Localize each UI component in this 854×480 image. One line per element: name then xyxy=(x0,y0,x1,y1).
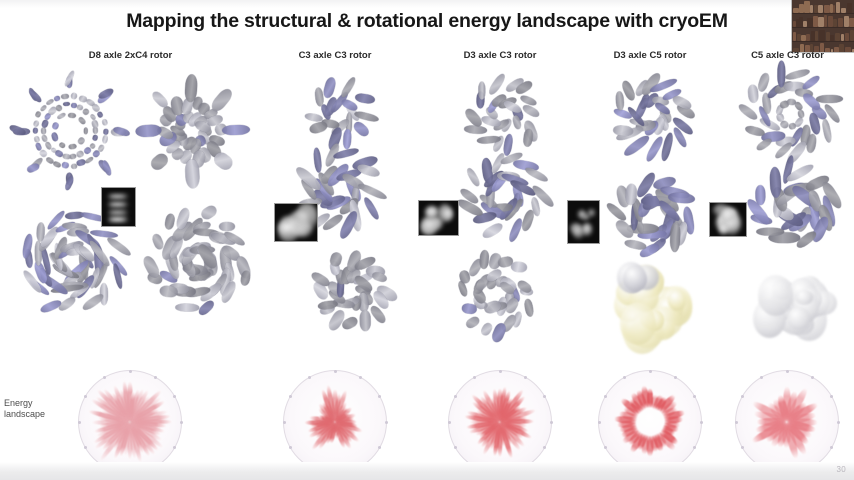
energy-landscape-plot-col-3[interactable] xyxy=(448,370,552,474)
landscape-tick xyxy=(448,421,451,424)
top-gradient-band xyxy=(0,0,854,8)
book-spine xyxy=(841,34,845,41)
landscape-tick xyxy=(499,370,502,373)
book-spine xyxy=(804,1,809,13)
book-spine xyxy=(810,5,813,14)
book-spine xyxy=(839,44,844,52)
density-map-c5-white xyxy=(742,258,850,354)
landscape-tick xyxy=(173,395,176,398)
row-label-energy-landscape: Energy landscape xyxy=(4,398,66,420)
landscape-tick xyxy=(598,421,601,424)
class-average-inset-5 xyxy=(709,202,747,237)
landscape-tick xyxy=(334,370,337,373)
book-spine xyxy=(818,17,823,27)
book-spine xyxy=(819,30,825,41)
book-spine xyxy=(799,17,802,27)
landscape-tick xyxy=(550,421,553,424)
structure-c2-bottom-surface-render xyxy=(298,240,406,342)
book-spine xyxy=(841,8,847,13)
book-spine xyxy=(814,46,819,52)
book-spine xyxy=(801,35,805,41)
landscape-tick xyxy=(180,421,183,424)
class-average-inset-3 xyxy=(418,200,459,236)
landscape-tick xyxy=(283,421,286,424)
book-spine xyxy=(850,30,854,41)
structure-c1-top-surface-render xyxy=(132,72,252,190)
class-average-inset-4 xyxy=(567,200,600,244)
book-spine xyxy=(826,32,830,41)
book-spine xyxy=(825,48,830,52)
structure-c4-mid-side-view xyxy=(598,168,710,264)
book-spine xyxy=(806,34,810,41)
landscape-tick xyxy=(830,446,833,449)
landscape-tick xyxy=(129,370,132,373)
book-spine xyxy=(813,16,817,27)
slide-canvas: Mapping the structural & rotational ener… xyxy=(0,0,854,480)
landscape-tick xyxy=(786,370,789,373)
book-spine xyxy=(810,44,813,52)
book-spine xyxy=(836,2,840,13)
landscape-tick xyxy=(385,421,388,424)
book-spine xyxy=(833,19,837,27)
landscape-tick xyxy=(378,446,381,449)
book-spine xyxy=(824,5,830,13)
column-header-c3-axle-c3-rotor: C3 axle C3 rotor xyxy=(255,50,415,61)
class-average-inset-1 xyxy=(101,187,136,227)
book-spine xyxy=(830,35,833,41)
landscape-tick xyxy=(700,421,703,424)
presenter-webcam-overlay[interactable] xyxy=(792,0,854,52)
book-spine xyxy=(805,45,810,52)
book-spine xyxy=(834,47,839,52)
page-title: Mapping the structural & rotational ener… xyxy=(0,10,854,33)
landscape-tick xyxy=(837,421,840,424)
energy-landscape-plot-col-2[interactable] xyxy=(283,370,387,474)
landscape-disc xyxy=(598,370,702,474)
landscape-tick xyxy=(543,446,546,449)
book-spine xyxy=(793,48,799,52)
slide-number: 30 xyxy=(837,465,847,474)
row-label-line-1: Energy xyxy=(4,398,66,409)
book-spine xyxy=(845,47,851,52)
structure-c3-mid-side-view xyxy=(448,148,562,244)
book-spine xyxy=(845,33,850,41)
bookshelf-row-1 xyxy=(792,0,854,13)
landscape-tick xyxy=(543,395,546,398)
bookshelf-row-4 xyxy=(792,42,854,52)
landscape-tick xyxy=(693,395,696,398)
structure-c5-mid-side-view xyxy=(742,160,850,254)
landscape-tick xyxy=(735,421,738,424)
book-spine xyxy=(824,15,827,27)
landscape-tick xyxy=(693,446,696,449)
book-spine xyxy=(814,5,818,13)
class-average-inset-2 xyxy=(274,203,318,242)
structure-c5-top-axial-view xyxy=(736,64,844,164)
column-header-d3-axle-c3-rotor: D3 axle C3 rotor xyxy=(420,50,580,61)
book-spine xyxy=(800,44,804,52)
book-spine xyxy=(838,18,844,27)
column-header-d8-axle-2xc4-rotor: D8 axle 2xC4 rotor xyxy=(48,50,213,61)
book-spine xyxy=(799,4,804,13)
energy-landscape-plot-col-1[interactable] xyxy=(78,370,182,474)
landscape-tick xyxy=(830,395,833,398)
book-spine xyxy=(807,18,812,27)
column-header-d3-axle-c5-rotor: D3 axle C5 rotor xyxy=(570,50,730,61)
bookshelf-row-3 xyxy=(792,28,854,41)
landscape-tick xyxy=(173,446,176,449)
book-spine xyxy=(835,33,840,41)
structure-c4-top-axial-view xyxy=(596,66,708,164)
book-spine xyxy=(815,31,818,41)
book-spine xyxy=(844,16,849,27)
book-spine xyxy=(849,18,854,27)
bottom-gradient-band xyxy=(0,462,854,480)
landscape-tick xyxy=(378,395,381,398)
book-spine xyxy=(831,49,833,52)
book-spine xyxy=(811,31,815,41)
book-spine xyxy=(847,3,852,13)
structure-c3-bottom-surface-render xyxy=(440,244,552,344)
energy-landscape-plot-col-4[interactable] xyxy=(598,370,702,474)
structure-c1-mid-surface-render xyxy=(136,196,262,326)
structure-c1-top-axial-ring xyxy=(10,72,130,190)
book-spine xyxy=(833,5,835,13)
book-spine xyxy=(793,21,796,27)
book-spine xyxy=(820,43,824,52)
book-spine xyxy=(828,16,833,27)
row-label-line-2: landscape xyxy=(4,409,66,420)
energy-landscape-plot-col-5[interactable] xyxy=(735,370,839,474)
landscape-tick xyxy=(649,370,652,373)
book-spine xyxy=(797,34,801,41)
book-spine xyxy=(818,5,823,13)
book-spine xyxy=(803,21,807,27)
book-spine xyxy=(793,32,796,41)
density-map-c4-grey-cap xyxy=(600,252,670,296)
landscape-tick xyxy=(78,421,81,424)
bookshelf-row-2 xyxy=(792,14,854,27)
book-spine xyxy=(793,8,799,13)
